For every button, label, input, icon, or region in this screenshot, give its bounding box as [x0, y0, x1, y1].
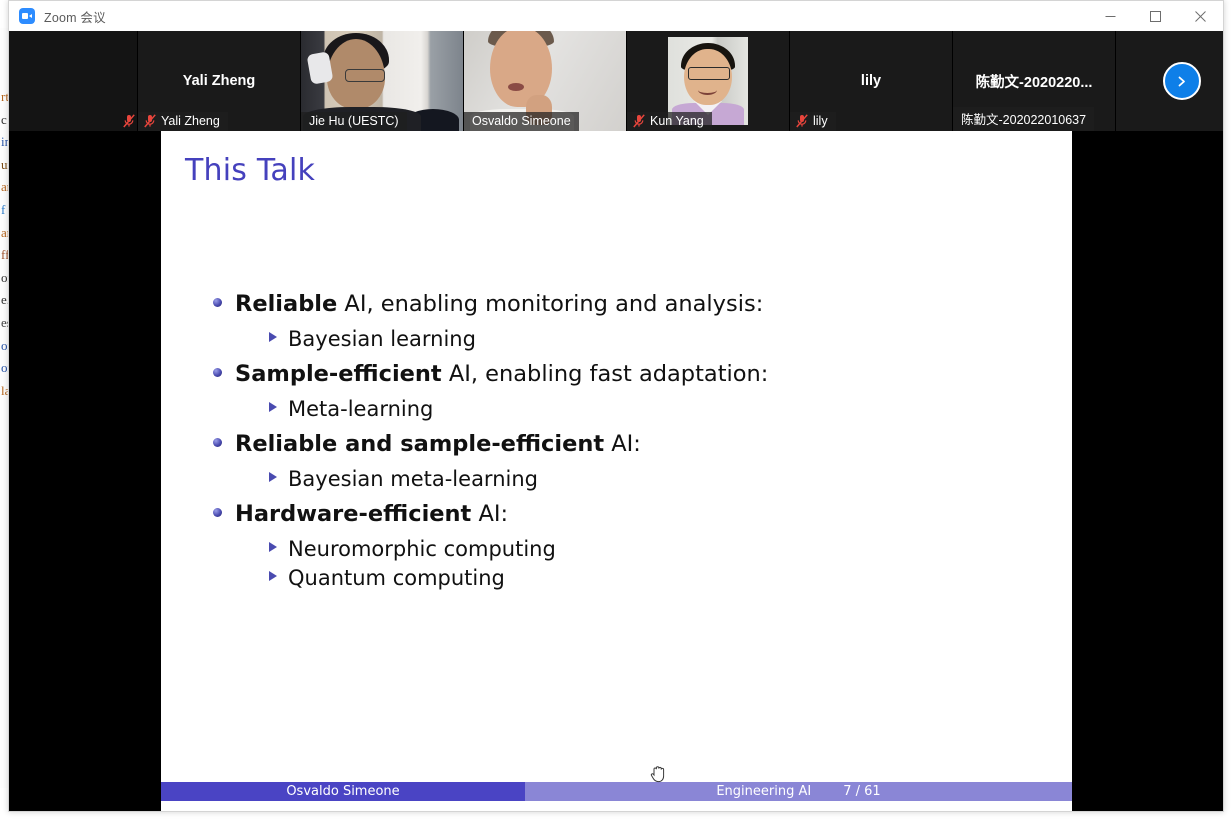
sub-bullet-text: Quantum computing: [288, 565, 505, 591]
slide-footer-author: Osvaldo Simeone: [161, 782, 525, 801]
sub-bullet-text: Neuromorphic computing: [288, 536, 556, 562]
sub-bullet-item: Quantum computing: [269, 565, 1052, 591]
bullet-text: Reliable and sample-efficient AI:: [235, 431, 641, 458]
slide-footer-page: 7 / 61: [843, 784, 880, 799]
zoom-video-icon: [19, 8, 35, 24]
bullet-item: Reliable and sample-efficient AI:: [213, 431, 1052, 458]
window-controls: [1088, 1, 1223, 31]
bullet-text: Hardware-efficient AI:: [235, 501, 508, 528]
bullet-lead: Reliable: [235, 291, 337, 317]
bullet-lead: Reliable and sample-efficient: [235, 431, 604, 457]
slide-footer: Osvaldo Simeone Engineering AI 7 / 61: [161, 782, 1072, 801]
zoom-meeting-window: Zoom 会议: [8, 0, 1224, 812]
slide-bullet-list: Reliable AI, enabling monitoring and ana…: [213, 291, 1052, 599]
filmstrip-next-page[interactable]: [1116, 31, 1223, 131]
bullet-dot-icon: [213, 368, 222, 377]
slide-title: This Talk: [185, 153, 315, 188]
sub-bullet-item: Bayesian meta-learning: [269, 466, 1052, 492]
bullet-group: Sample-efficient AI, enabling fast adapt…: [213, 361, 1052, 423]
triangle-bullet-icon: [269, 571, 277, 581]
tile-label-text: Jie Hu (UESTC): [309, 114, 399, 128]
tile-label-text: Kun Yang: [650, 114, 704, 128]
sub-bullet-item: Neuromorphic computing: [269, 536, 1052, 562]
title-bar: Zoom 会议: [9, 1, 1223, 32]
tile-label: Kun Yang: [627, 112, 712, 131]
minimize-icon[interactable]: [1088, 1, 1133, 31]
bullet-dot-icon: [213, 508, 222, 517]
participant-tile-yali-zheng[interactable]: Yali Zheng Yali Zheng: [138, 31, 301, 131]
sub-bullet-item: Bayesian learning: [269, 326, 1052, 352]
bullet-item: Hardware-efficient AI:: [213, 501, 1052, 528]
tile-label: Osvaldo Simeone: [464, 112, 579, 131]
bullet-dot-icon: [213, 298, 222, 307]
mic-muted-icon: [633, 114, 645, 128]
chevron-right-icon[interactable]: [1163, 62, 1201, 100]
bullet-lead: Hardware-efficient: [235, 501, 471, 527]
screen-root: rt c in ur ar f ar ff or e. es or or la …: [0, 0, 1232, 819]
participant-tile-chenqinwen[interactable]: 陈勤文-2020220... 陈勤文-202022010637: [953, 31, 1116, 131]
triangle-bullet-icon: [269, 542, 277, 552]
bullet-item: Sample-efficient AI, enabling fast adapt…: [213, 361, 1052, 388]
participant-tile-jie-hu[interactable]: Jie Hu (UESTC): [301, 31, 464, 131]
close-icon[interactable]: [1178, 1, 1223, 31]
presentation-slide[interactable]: This Talk Reliable AI, enabling monitori…: [161, 131, 1072, 811]
sub-bullet-text: Meta-learning: [288, 396, 433, 422]
bullet-item: Reliable AI, enabling monitoring and ana…: [213, 291, 1052, 318]
participant-tile-partial[interactable]: [9, 31, 138, 131]
bullet-rest: AI, enabling fast adaptation:: [442, 361, 769, 387]
bullet-dot-icon: [213, 438, 222, 447]
tile-label: Jie Hu (UESTC): [301, 112, 407, 131]
hand-cursor: [650, 763, 667, 783]
tile-label-text: lily: [813, 114, 828, 128]
video-detail: [508, 83, 524, 91]
tile-label-text: Yali Zheng: [161, 114, 220, 128]
photo-detail: [688, 67, 730, 80]
tile-label-text: 陈勤文-202022010637: [961, 109, 1086, 128]
bullet-group: Reliable AI, enabling monitoring and ana…: [213, 291, 1052, 353]
tile-label-text: Osvaldo Simeone: [472, 114, 571, 128]
sub-bullet-item: Meta-learning: [269, 396, 1052, 422]
tile-label: Yali Zheng: [138, 112, 228, 131]
slide-footer-right: Engineering AI 7 / 61: [525, 782, 1072, 801]
participant-tile-lily[interactable]: lily lily: [790, 31, 953, 131]
mic-muted-icon: [144, 114, 156, 128]
photo-detail: [698, 85, 717, 95]
video-detail: [345, 69, 385, 82]
bullet-text: Sample-efficient AI, enabling fast adapt…: [235, 361, 768, 388]
participant-tile-kun-yang[interactable]: Kun Yang: [627, 31, 790, 131]
sub-bullet-text: Bayesian learning: [288, 326, 476, 352]
participant-tile-osvaldo-simeone[interactable]: Osvaldo Simeone: [464, 31, 627, 131]
participant-filmstrip[interactable]: Yali Zheng Yali Zheng: [9, 31, 1223, 131]
bullet-rest: AI:: [471, 501, 508, 527]
tile-label: lily: [790, 112, 836, 131]
triangle-bullet-icon: [269, 402, 277, 412]
bullet-rest: AI:: [604, 431, 641, 457]
mic-muted-icon: [123, 114, 135, 128]
bullet-group: Reliable and sample-efficient AI: Bayesi…: [213, 431, 1052, 493]
bullet-rest: AI, enabling monitoring and analysis:: [337, 291, 763, 317]
sub-bullet-text: Bayesian meta-learning: [288, 466, 538, 492]
shared-screen-area[interactable]: This Talk Reliable AI, enabling monitori…: [9, 131, 1223, 811]
mic-muted-icon: [796, 114, 808, 128]
maximize-icon[interactable]: [1133, 1, 1178, 31]
bullet-text: Reliable AI, enabling monitoring and ana…: [235, 291, 763, 318]
window-title: Zoom 会议: [44, 7, 106, 26]
bullet-group: Hardware-efficient AI: Neuromorphic comp…: [213, 501, 1052, 591]
triangle-bullet-icon: [269, 472, 277, 482]
slide-footer-deck-title: Engineering AI: [716, 784, 811, 799]
tile-label: 陈勤文-202022010637: [953, 107, 1094, 131]
bullet-lead: Sample-efficient: [235, 361, 442, 387]
triangle-bullet-icon: [269, 332, 277, 342]
tile-label: [117, 112, 137, 131]
